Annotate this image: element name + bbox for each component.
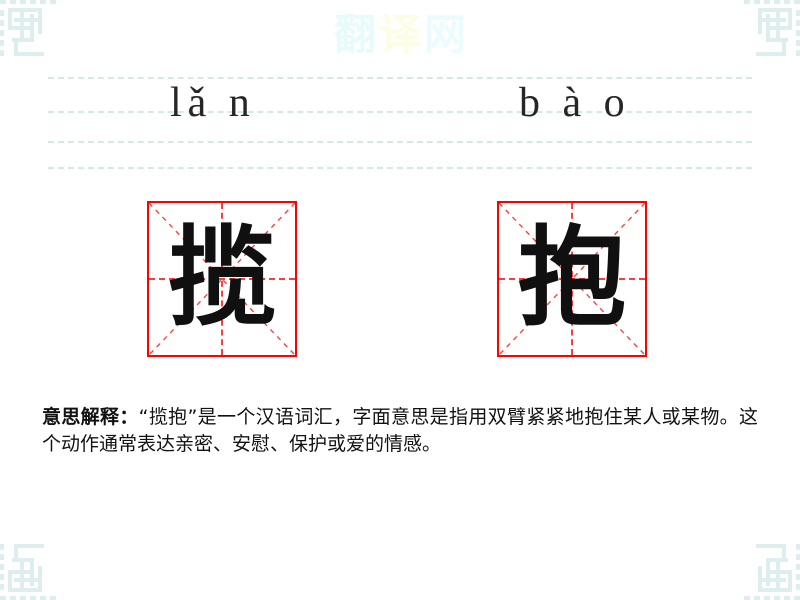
corner-ornament-bottom-left xyxy=(0,540,60,600)
corner-ornament-bottom-right xyxy=(740,540,800,600)
explanation-label: 意思解释： xyxy=(42,406,139,428)
hanzi-character-2: 抱 xyxy=(499,203,645,355)
corner-ornament-top-left xyxy=(0,0,60,60)
character-grid-box-2: 抱 xyxy=(497,201,647,357)
staff-line-1 xyxy=(48,77,752,79)
watermark-char-3: 网 xyxy=(424,14,466,56)
pinyin-second: b à o xyxy=(519,82,631,124)
staff-line-2 xyxy=(48,111,752,113)
explanation-body: “揽抱”是一个汉语词汇，字面意思是指用双臂紧紧地抱住某人或某物。这个动作通常表达… xyxy=(42,406,758,455)
hanzi-character-1: 揽 xyxy=(149,203,295,355)
character-grid-box-1: 揽 xyxy=(147,201,297,357)
staff-line-4 xyxy=(48,167,752,169)
explanation-paragraph: 意思解释：“揽抱”是一个汉语词汇，字面意思是指用双臂紧紧地抱住某人或某物。这个动… xyxy=(42,404,758,458)
watermark-char-2: 译 xyxy=(379,14,421,56)
slide-canvas: 翻 译 网 lǎ n b à o 揽 抱 意思解释：“揽抱”是一个汉语词汇，字面… xyxy=(0,0,800,600)
corner-ornament-top-right xyxy=(740,0,800,60)
pinyin-staff xyxy=(48,77,752,169)
pinyin-first: lǎ n xyxy=(170,82,256,124)
watermark-char-1: 翻 xyxy=(334,14,376,56)
watermark-logo: 翻 译 网 xyxy=(334,14,466,56)
staff-line-3 xyxy=(48,141,752,143)
